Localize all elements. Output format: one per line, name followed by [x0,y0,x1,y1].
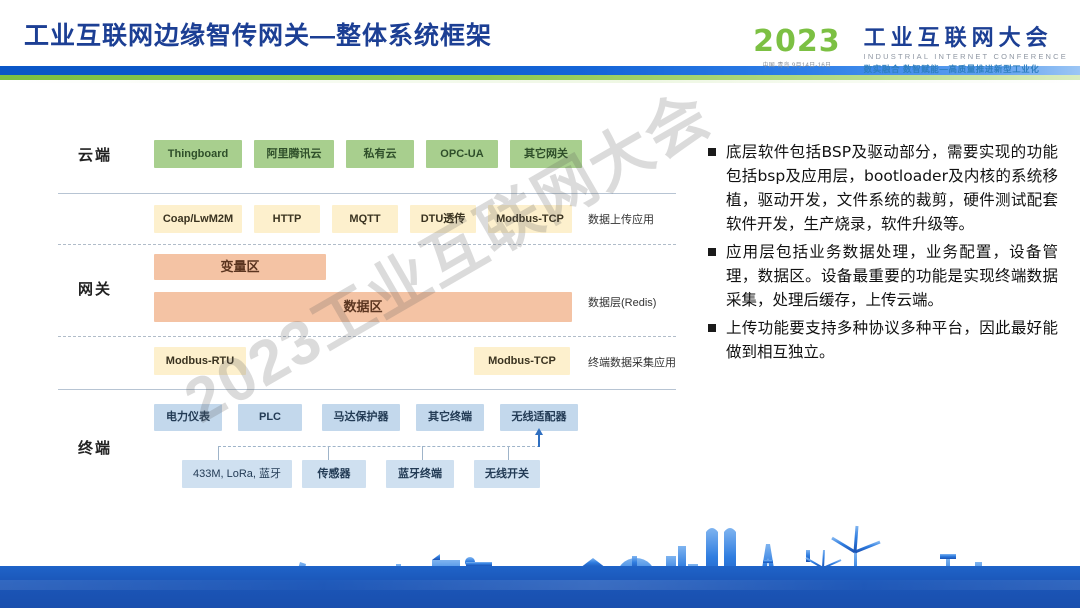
cloud-box[interactable]: OPC-UA [426,140,498,168]
connector-line [422,446,423,460]
conference-logo: 2023 中国·青岛 9月14日-16日 工业互联网大会 INDUSTRIAL … [753,26,1068,76]
page-title: 工业互联网边缘智传网关—整体系统框架 [24,16,492,52]
protocol-box[interactable]: Coap/LwM2M [154,205,242,233]
logo-conference-en: INDUSTRIAL INTERNET CONFERENCE [864,52,1068,61]
connector-line [508,446,509,460]
cloud-box[interactable]: 阿里腾讯云 [254,140,334,168]
dashed-divider-upload [58,244,676,245]
slide-footer [0,498,1080,608]
bullet-square-icon [708,248,716,256]
separator-cloud-gateway [58,193,676,194]
cloud-box[interactable]: 其它网关 [510,140,582,168]
logo-year: 2023 [753,26,841,58]
logo-text-block: 工业互联网大会 INDUSTRIAL INTERNET CONFERENCE 数… [864,26,1068,75]
logo-conference-cn: 工业互联网大会 [864,26,1068,50]
protocol-box[interactable]: Modbus-TCP [488,205,572,233]
wireless-box[interactable]: 无线开关 [474,460,540,488]
protocol-box[interactable]: DTU透传 [410,205,476,233]
wireless-box[interactable]: 传感器 [302,460,366,488]
collect-box[interactable]: Modbus-RTU [154,347,246,375]
bullet-list: 底层软件包括BSP及驱动部分，需要实现的功能包括bsp及应用层，bootload… [708,140,1058,368]
bullet-square-icon [708,148,716,156]
zone-box-data[interactable]: 数据区 [154,292,572,322]
separator-gateway-terminal [58,389,676,390]
bullet-square-icon [708,324,716,332]
slide-root: 工业互联网边缘智传网关—整体系统框架 2023 中国·青岛 9月14日-16日 … [0,0,1080,608]
slide-header: 工业互联网边缘智传网关—整体系统框架 2023 中国·青岛 9月14日-16日 … [0,0,1080,92]
protocol-box[interactable]: MQTT [332,205,398,233]
uplink-arrow-head [535,428,543,435]
connector-line [328,446,329,460]
terminal-box[interactable]: 其它终端 [416,404,484,431]
row-label-cloud: 云端 [78,144,112,165]
logo-year-block: 2023 中国·青岛 9月14日-16日 [753,26,853,69]
bullet-text: 应用层包括业务数据处理，业务配置，设备管理，数据区。设备最重要的功能是实现终端数… [726,240,1058,312]
terminal-box[interactable]: 电力仪表 [154,404,222,431]
bullet-item: 上传功能要支持多种协议多种平台，因此最好能做到相互独立。 [708,316,1058,364]
bullet-item: 应用层包括业务数据处理，业务配置，设备管理，数据区。设备最重要的功能是实现终端数… [708,240,1058,312]
architecture-diagram: 云端 网关 终端 Thingboard 阿里腾讯云 私有云 OPC-UA 其它网… [40,112,700,502]
logo-slogan: 数实融合 数智赋能—高质量推进新型工业化 [864,63,1068,75]
side-label-data-layer: 数据层(Redis) [588,294,656,310]
dashed-divider-collect [58,336,676,337]
cloud-box[interactable]: Thingboard [154,140,242,168]
logo-date: 中国·青岛 9月14日-16日 [753,60,841,69]
side-label-upload: 数据上传应用 [588,211,654,227]
zone-box-variable[interactable]: 变量区 [154,254,326,280]
bullet-text: 底层软件包括BSP及驱动部分，需要实现的功能包括bsp及应用层，bootload… [726,140,1058,236]
wireless-box[interactable]: 433M, LoRa, 蓝牙 [182,460,292,488]
connector-line [218,446,219,460]
side-label-collect: 终端数据采集应用 [588,354,676,370]
bullet-item: 底层软件包括BSP及驱动部分，需要实现的功能包括bsp及应用层，bootload… [708,140,1058,236]
bullet-text: 上传功能要支持多种协议多种平台，因此最好能做到相互独立。 [726,316,1058,364]
cloud-box[interactable]: 私有云 [346,140,414,168]
wireless-bus-line [218,446,540,447]
row-label-gateway: 网关 [78,278,112,299]
terminal-box[interactable]: PLC [238,404,302,431]
collect-box[interactable]: Modbus-TCP [474,347,570,375]
uplink-arrow-stem [538,434,540,447]
protocol-box[interactable]: HTTP [254,205,320,233]
row-label-terminal: 终端 [78,437,112,458]
wireless-box[interactable]: 蓝牙终端 [386,460,454,488]
terminal-box[interactable]: 无线适配器 [500,404,578,431]
terminal-box[interactable]: 马达保护器 [322,404,400,431]
sea-glint [0,580,1080,590]
header-light-rule [0,80,1080,83]
